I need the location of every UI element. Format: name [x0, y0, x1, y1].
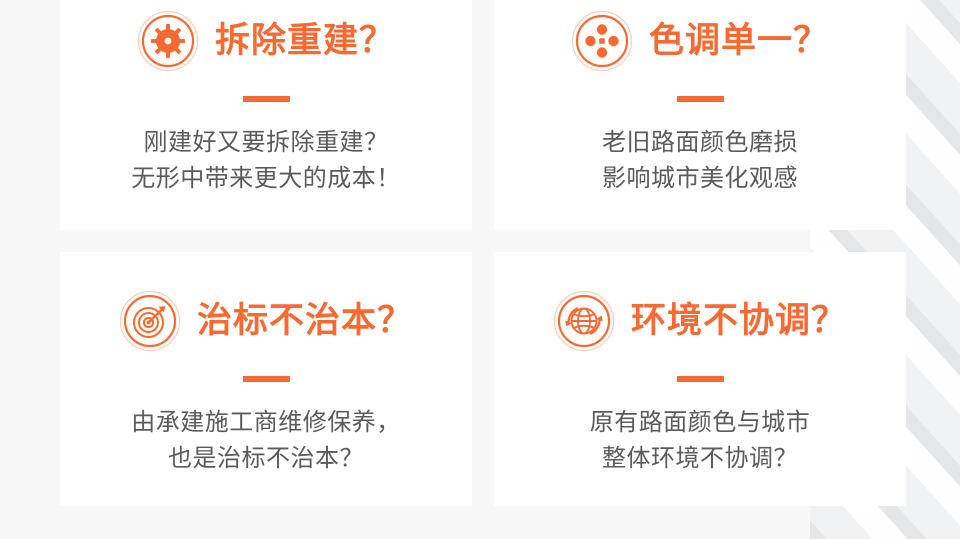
title-divider [243, 376, 290, 382]
card-header: 治标不治本？ [119, 290, 413, 352]
card-title: 治标不治本？ [197, 304, 413, 339]
target-arrow-icon [119, 290, 181, 352]
card-header: 拆除重建？ [137, 10, 395, 72]
card-body-text: 由承建施工商维修保养， 也是治标不治本？ [131, 404, 401, 477]
card-title: 拆除重建？ [215, 24, 395, 59]
feature-card-symptom-not-cause[interactable]: 治标不治本？ 由承建施工商维修保养， 也是治标不治本？ [60, 252, 472, 506]
card-body-text: 老旧路面颜色磨损 影响城市美化观感 [602, 124, 798, 197]
card-header: 环境不协调？ [553, 290, 847, 352]
feature-card-demolition-rebuild[interactable]: 拆除重建？ 刚建好又要拆除重建？ 无形中带来更大的成本！ [60, 0, 472, 230]
title-divider [677, 96, 724, 102]
card-title: 色调单一？ [649, 24, 829, 59]
feature-card-environment-mismatch[interactable]: 环境不协调？ 原有路面颜色与城市 整体环境不协调？ [494, 252, 906, 506]
feature-card-grid: 拆除重建？ 刚建好又要拆除重建？ 无形中带来更大的成本！ [60, 0, 906, 506]
card-title: 环境不协调？ [631, 304, 847, 339]
title-divider [677, 376, 724, 382]
feature-card-monotone-color[interactable]: 色调单一？ 老旧路面颜色磨损 影响城市美化观感 [494, 0, 906, 230]
globe-arrows-icon [553, 290, 615, 352]
promo-feature-grid-page: 拆除重建？ 刚建好又要拆除重建？ 无形中带来更大的成本！ [0, 0, 960, 539]
title-divider [243, 96, 290, 102]
four-dots-icon [571, 10, 633, 72]
card-header: 色调单一？ [571, 10, 829, 72]
card-body-text: 原有路面颜色与城市 整体环境不协调？ [590, 404, 811, 477]
gear-icon [137, 10, 199, 72]
card-body-text: 刚建好又要拆除重建？ 无形中带来更大的成本！ [131, 124, 401, 197]
